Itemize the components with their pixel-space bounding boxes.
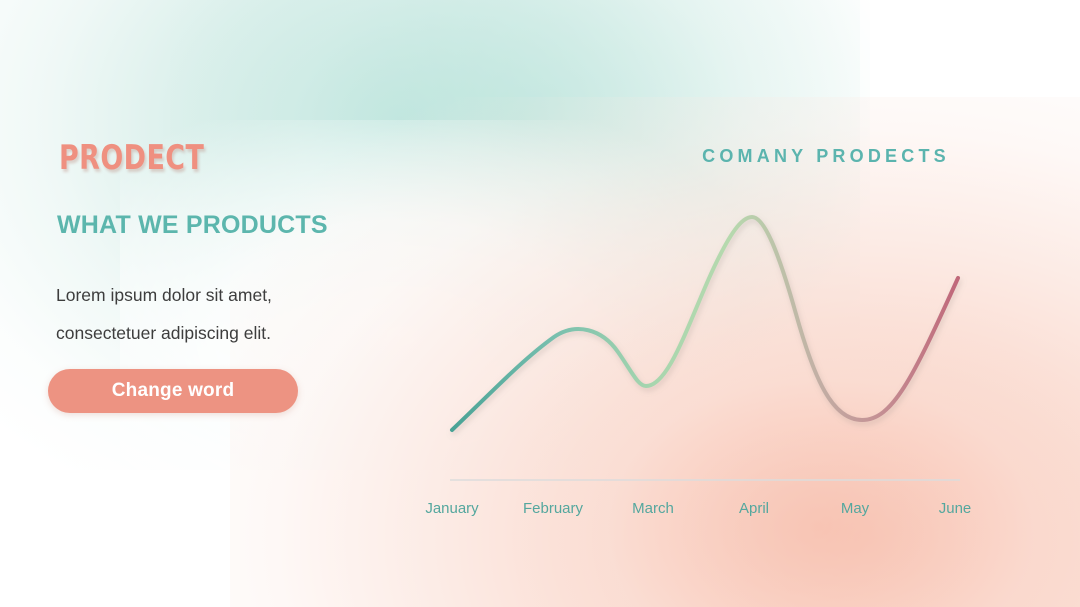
x-tick-april: April bbox=[739, 500, 769, 517]
chart-x-axis-labels: January February March April May June bbox=[400, 500, 1080, 524]
body-paragraph-line-2: consectetuer adipiscing elit. bbox=[56, 314, 326, 352]
x-tick-february: February bbox=[523, 500, 583, 517]
slide-canvas: PRODECT WHAT WE PRODUCTS Lorem ipsum dol… bbox=[0, 0, 1080, 607]
x-tick-january: January bbox=[425, 500, 478, 517]
x-tick-march: March bbox=[632, 500, 674, 517]
x-tick-june: June bbox=[939, 500, 972, 517]
body-paragraph-line-1: Lorem ipsum dolor sit amet, bbox=[56, 276, 326, 314]
x-tick-may: May bbox=[841, 500, 869, 517]
chart-panel: COMANY PRODECTS bbox=[400, 0, 1080, 607]
brand-title: PRODECT bbox=[59, 138, 204, 178]
chart-data-line bbox=[452, 217, 958, 430]
body-paragraph: Lorem ipsum dolor sit amet, consectetuer… bbox=[56, 276, 326, 352]
section-heading: WHAT WE PRODUCTS bbox=[57, 211, 328, 240]
left-content-panel: PRODECT WHAT WE PRODUCTS Lorem ipsum dol… bbox=[0, 0, 430, 607]
change-word-button[interactable]: Change word bbox=[48, 369, 298, 413]
